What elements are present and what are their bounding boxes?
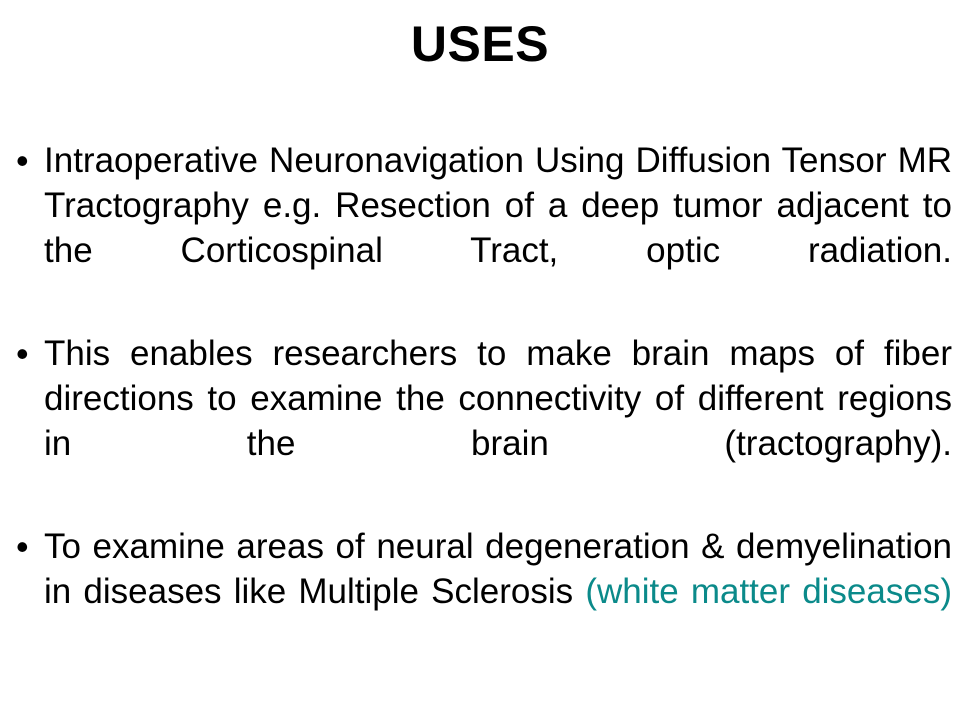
bullet-3-text: To examine areas of neural degeneration … — [44, 524, 952, 659]
bullet-2-text: This enables researchers to make brain m… — [44, 331, 952, 511]
slide-canvas: USES • Intraoperative Neuronavigation Us… — [0, 0, 960, 720]
page-title: USES — [0, 18, 960, 71]
bullet-1-text: Intraoperative Neuronavigation Using Dif… — [44, 138, 952, 318]
list-item: • To examine areas of neural degeneratio… — [10, 524, 952, 659]
bullet-list: • Intraoperative Neuronavigation Using D… — [10, 138, 952, 659]
bullet-3-text-accent: (white matter diseases) — [585, 572, 952, 611]
list-item: • This enables researchers to make brain… — [10, 331, 952, 511]
bullet-point-icon: • — [10, 331, 44, 376]
bullet-point-icon: • — [10, 138, 44, 183]
bullet-point-icon: • — [10, 524, 44, 569]
list-item: • Intraoperative Neuronavigation Using D… — [10, 138, 952, 318]
